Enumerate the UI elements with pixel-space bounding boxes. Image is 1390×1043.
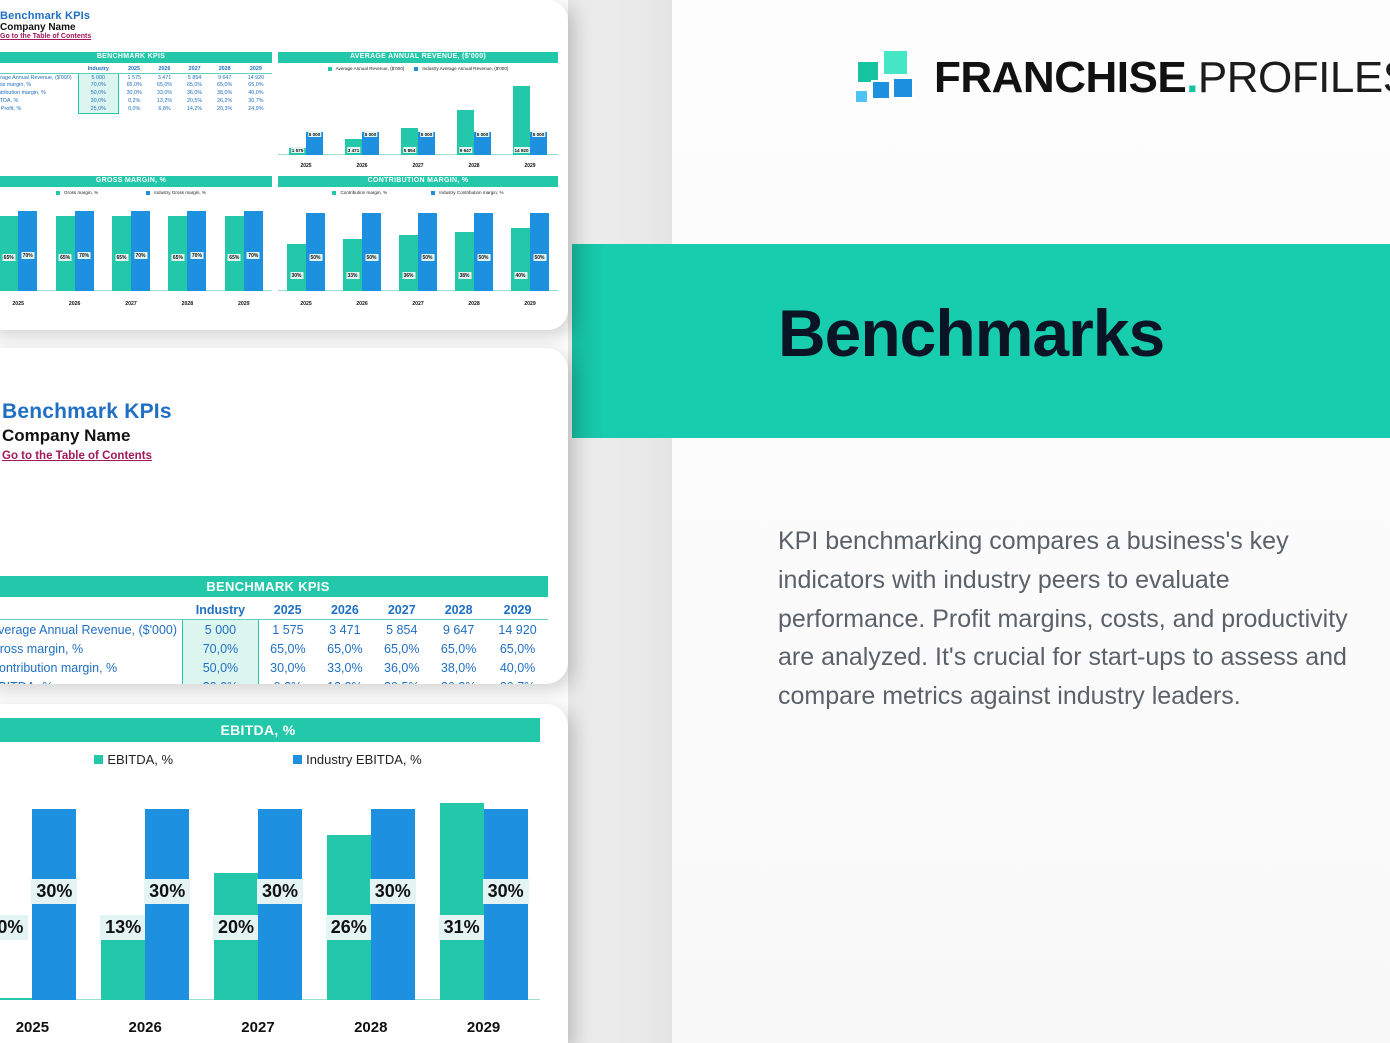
logo-word-franchise: FRANCHISE	[934, 53, 1186, 102]
x-axis-label: 2028	[159, 301, 215, 307]
bar-series: 36%	[399, 235, 418, 291]
panel-contribution-margin-small: CONTRIBUTION MARGIN, % Contribution marg…	[278, 176, 558, 308]
bar-group: 31%30%	[440, 790, 528, 1000]
cell-value: 30,0%	[259, 658, 317, 677]
x-axis-label: 2025	[0, 1019, 89, 1036]
bar-value-label: 5 000	[308, 131, 322, 137]
bar-series: 31%	[440, 803, 484, 1000]
background-gray-column	[568, 0, 672, 1043]
legend-label: Industry Contribution margin, %	[439, 190, 503, 195]
logo-square-3	[892, 77, 914, 99]
bar-industry: 30%	[371, 809, 415, 1000]
column-header: Industry	[182, 600, 259, 620]
bar-value-label: 30%	[370, 879, 416, 904]
bar-industry: 50%	[362, 213, 381, 291]
legend-label: Average Annual Revenue, ($'000)	[336, 66, 405, 71]
cell-value: 0,2%	[259, 677, 317, 684]
cell-value: 30,7%	[240, 97, 272, 105]
bar-group: 9 6475 000	[457, 83, 491, 155]
cell-value: 26,2%	[430, 677, 487, 684]
cell-value: 65,0%	[373, 639, 430, 658]
bar-value-label: 30%	[257, 879, 303, 904]
bar-industry: 30%	[258, 809, 302, 1000]
logo-square-5	[854, 89, 869, 104]
cell-value: 9 647	[430, 620, 487, 640]
bar-group: 65%70%	[0, 205, 37, 291]
bar-series: 38%	[455, 232, 474, 291]
column-header	[0, 65, 78, 73]
cell-value: 0,2%	[118, 97, 149, 105]
cell-industry: 30,0%	[182, 677, 259, 684]
bar-series: 65%	[56, 216, 75, 291]
legend-swatch-series	[332, 191, 336, 195]
sheet-company-name: Company Name	[0, 22, 568, 33]
cell-value: 65,0%	[316, 639, 373, 658]
cell-value: 65,0%	[180, 82, 210, 90]
table-row: Average Annual Revenue, ($'000)5 0001 57…	[0, 73, 272, 81]
panel-title: CONTRIBUTION MARGIN, %	[278, 176, 558, 187]
benchmark-kpis-table-large: Industry20252026202720282029Average Annu…	[0, 600, 548, 684]
logo-square-2	[882, 49, 909, 76]
legend-swatch-industry	[414, 67, 418, 71]
cell-industry: 25,0%	[78, 105, 118, 113]
bar-group: 20%30%	[214, 790, 302, 1000]
bar-group: 65%70%	[112, 205, 150, 291]
chart-legend: Gross margin, % Industry Gross margin, %	[0, 190, 272, 195]
cell-value: 33,0%	[316, 658, 373, 677]
bar-industry: 70%	[131, 211, 150, 291]
column-header: 2028	[210, 65, 240, 73]
table-row: Contribution margin, %50,0%30,0%33,0%36,…	[0, 89, 272, 97]
bar-value-label: 5 000	[476, 131, 490, 137]
cell-value: 20,5%	[373, 677, 430, 684]
row-label: Average Annual Revenue, ($'000)	[0, 620, 182, 640]
legend-swatch-industry	[293, 755, 302, 764]
bar-industry: 50%	[306, 213, 325, 291]
column-header: 2025	[118, 65, 149, 73]
cell-value: 3 471	[149, 73, 179, 81]
x-axis-label: 2029	[216, 301, 272, 307]
panel-title: BENCHMARK KPIS	[0, 576, 548, 597]
legend-label: Industry Gross margin, %	[154, 190, 206, 195]
table-row: Average Annual Revenue, ($'000)5 0001 57…	[0, 620, 548, 640]
bar-series: 5 854	[401, 128, 418, 155]
legend-label: Contribution margin, %	[340, 190, 387, 195]
brand-logo[interactable]: FRANCHISE.PROFILES	[852, 47, 1352, 109]
bar-value-label: 26%	[326, 915, 372, 940]
cell-industry: 5 000	[78, 73, 118, 81]
bar-series: 3 471	[345, 139, 362, 155]
cell-value: 65,0%	[210, 82, 240, 90]
cell-industry: 70,0%	[182, 639, 259, 658]
bar-series: 13%	[101, 917, 145, 1000]
x-axis-label: 2029	[502, 163, 558, 169]
cell-value: 65,0%	[240, 82, 272, 90]
bar-industry: 5 000	[530, 132, 547, 155]
bar-value-label: 50%	[421, 254, 434, 261]
chart-legend: Contribution margin, % Industry Contribu…	[278, 190, 558, 195]
bar-value-label: 50%	[309, 254, 322, 261]
legend-label: EBITDA, %	[107, 752, 173, 767]
bar-value-label: 50%	[533, 254, 546, 261]
bar-series: 1 575	[289, 148, 306, 155]
bar-value-label: 70%	[21, 252, 34, 259]
cell-value: 20,3%	[210, 105, 240, 113]
bar-value-label: 5 854	[403, 147, 417, 153]
bar-value-label: 36%	[402, 272, 415, 279]
table-header-row: Industry20252026202720282029	[0, 600, 548, 620]
column-header: 2025	[259, 600, 317, 620]
cell-value: 38,0%	[210, 89, 240, 97]
cell-industry: 5 000	[182, 620, 259, 640]
table-row: Gross margin, %70,0%65,0%65,0%65,0%65,0%…	[0, 639, 548, 658]
legend-label: Industry EBITDA, %	[306, 752, 422, 767]
chart-gross-margin-small: 65%70%202565%70%202665%70%202765%70%2028…	[0, 197, 272, 307]
bar-series: 14 920	[513, 86, 530, 155]
cell-value: 0,0%	[118, 105, 149, 113]
x-axis-label: 2027	[202, 1019, 315, 1036]
cell-value: 14 920	[487, 620, 548, 640]
cell-value: 65,0%	[259, 639, 317, 658]
table-row: EBITDA, %30,0%0,2%13,2%20,5%26,2%30,7%	[0, 677, 548, 684]
chart-legend: Average Annual Revenue, ($'000) Industry…	[278, 66, 558, 71]
row-label: Gross margin, %	[0, 639, 182, 658]
column-header: 2026	[316, 600, 373, 620]
bar-value-label: 5 000	[420, 131, 434, 137]
bar-value-label: 38%	[458, 272, 471, 279]
x-axis-label: 2027	[103, 301, 159, 307]
bar-industry: 50%	[530, 213, 549, 291]
x-axis-label: 2029	[502, 301, 558, 307]
row-label: EBITDA, %	[0, 97, 78, 105]
page-description: KPI benchmarking compares a business's k…	[778, 522, 1356, 716]
bar-value-label: 30%	[144, 879, 190, 904]
bar-value-label: 9 647	[459, 147, 473, 153]
table-row: Contribution margin, %50,0%30,0%33,0%36,…	[0, 658, 548, 677]
bar-value-label: 5 000	[364, 131, 378, 137]
bar-group: 14 9205 000	[513, 83, 547, 155]
bar-value-label: 14 920	[513, 147, 529, 153]
table-of-contents-link[interactable]: Go to the Table of Contents	[0, 33, 568, 40]
x-axis-label: 2027	[390, 301, 446, 307]
column-header: 2026	[149, 65, 179, 73]
sheet-header-large: Benchmark KPIs Company Name Go to the Ta…	[0, 348, 568, 462]
x-axis-label: 2026	[46, 301, 102, 307]
table-row: EBITDA, %30,0%0,2%13,2%20,5%26,2%30,7%	[0, 97, 272, 105]
table-row: Net Profit, %25,0%0,0%6,8%14,2%20,3%24,9…	[0, 105, 272, 113]
chart-contribution-margin-small: 30%50%202533%50%202636%50%202738%50%2028…	[278, 197, 558, 307]
bar-value-label: 65%	[171, 254, 184, 261]
cell-value: 30,7%	[487, 677, 548, 684]
legend-swatch-industry	[146, 191, 150, 195]
cell-value: 36,0%	[180, 89, 210, 97]
cell-value: 3 471	[316, 620, 373, 640]
panel-title: BENCHMARK KPIS	[0, 52, 272, 63]
bar-industry: 70%	[75, 211, 94, 291]
cell-value: 30,0%	[118, 89, 149, 97]
bar-value-label: 0%	[0, 915, 28, 940]
column-header: 2027	[180, 65, 210, 73]
x-axis-label: 2028	[446, 301, 502, 307]
row-label: Net Profit, %	[0, 105, 78, 113]
cell-value: 6,8%	[149, 105, 179, 113]
cell-industry: 50,0%	[182, 658, 259, 677]
column-header: 2027	[373, 600, 430, 620]
sheet-company-name: Company Name	[2, 426, 568, 446]
panel-title: EBITDA, %	[0, 718, 540, 742]
bar-series: 26%	[327, 835, 371, 1000]
cell-industry: 50,0%	[78, 89, 118, 97]
chart-ebitda-large: 0%30%202513%30%202620%30%202726%30%20283…	[0, 771, 540, 1036]
sheet-title: Benchmark KPIs	[2, 400, 568, 424]
bar-value-label: 30%	[31, 879, 77, 904]
bar-value-label: 1 575	[291, 147, 305, 153]
cell-value: 14,2%	[180, 105, 210, 113]
bar-series: 40%	[511, 228, 530, 291]
chart-average-annual-revenue-small: 1 5755 00020253 4715 00020265 8545 00020…	[278, 73, 558, 169]
row-label: Average Annual Revenue, ($'000)	[0, 73, 78, 81]
bar-group: 1 5755 000	[289, 83, 323, 155]
bar-industry: 30%	[32, 809, 76, 1000]
table-row: Gross margin, %70,0%65,0%65,0%65,0%65,0%…	[0, 82, 272, 90]
logo-word-profiles: PROFILES	[1198, 53, 1390, 102]
cell-value: 14 920	[240, 73, 272, 81]
x-axis-label: 2026	[334, 301, 390, 307]
cell-value: 33,0%	[149, 89, 179, 97]
bar-group: 0%30%	[0, 790, 76, 1000]
panel-benchmark-kpis-large: BENCHMARK KPIS Industry20252026202720282…	[0, 576, 548, 676]
panel-average-annual-revenue-small: AVERAGE ANNUAL REVENUE, ($'000) Average …	[278, 52, 558, 170]
bar-series: 20%	[214, 873, 258, 1000]
x-axis-label: 2025	[278, 301, 334, 307]
legend-label: Gross margin, %	[64, 190, 98, 195]
panel-title: GROSS MARGIN, %	[0, 176, 272, 187]
cell-value: 1 575	[259, 620, 317, 640]
chart-legend: EBITDA, % Industry EBITDA, %	[0, 752, 540, 767]
x-axis-label: 2025	[278, 163, 334, 169]
logo-square-4	[871, 80, 891, 100]
table-of-contents-link[interactable]: Go to the Table of Contents	[2, 450, 568, 462]
page-title: Benchmarks	[778, 300, 1378, 366]
cell-value: 20,5%	[180, 97, 210, 105]
x-axis-label: 2028	[314, 1019, 427, 1036]
bar-group: 33%50%	[343, 205, 381, 291]
bar-series: 33%	[343, 239, 362, 291]
bar-series: 65%	[168, 216, 187, 291]
bar-value-label: 33%	[346, 272, 359, 279]
cell-value: 9 647	[210, 73, 240, 81]
table-header-row: Industry20252026202720282029	[0, 65, 272, 73]
bar-series: 65%	[0, 216, 18, 291]
column-header: 2029	[487, 600, 548, 620]
bar-value-label: 50%	[365, 254, 378, 261]
bar-value-label: 50%	[477, 254, 490, 261]
bar-group: 38%50%	[455, 205, 493, 291]
sheet-header-small: Benchmark KPIs Company Name Go to the Ta…	[0, 0, 568, 40]
bar-value-label: 70%	[78, 252, 91, 259]
bar-industry: 5 000	[306, 132, 323, 155]
benchmark-kpis-table-small: Industry20252026202720282029Average Annu…	[0, 65, 272, 114]
bar-group: 30%50%	[287, 205, 325, 291]
bar-industry: 30%	[145, 809, 189, 1000]
bar-value-label: 40%	[514, 272, 527, 279]
panel-ebitda-large: EBITDA, % EBITDA, % Industry EBITDA, % 0…	[0, 718, 540, 1038]
bar-series: 0%	[0, 998, 32, 1000]
cell-value: 26,2%	[210, 97, 240, 105]
bar-value-label: 65%	[59, 254, 72, 261]
cell-value: 36,0%	[373, 658, 430, 677]
cell-value: 13,2%	[316, 677, 373, 684]
bar-value-label: 70%	[247, 252, 260, 259]
bar-value-label: 5 000	[532, 131, 546, 137]
bar-value-label: 30%	[483, 879, 529, 904]
row-label: Contribution margin, %	[0, 658, 182, 677]
sheet-title: Benchmark KPIs	[0, 10, 568, 22]
column-header: Industry	[78, 65, 118, 73]
bar-group: 5 8545 000	[401, 83, 435, 155]
bar-industry: 5 000	[474, 132, 491, 155]
column-header: 2029	[240, 65, 272, 73]
bar-group: 65%70%	[168, 205, 206, 291]
logo-word-dot: .	[1186, 53, 1198, 102]
bar-value-label: 70%	[134, 252, 147, 259]
cell-value: 13,2%	[149, 97, 179, 105]
bar-value-label: 13%	[100, 915, 146, 940]
legend-swatch-series	[94, 755, 103, 764]
logo-squares-icon	[852, 49, 918, 107]
bar-group: 65%70%	[56, 205, 94, 291]
cell-value: 40,0%	[487, 658, 548, 677]
x-axis-label: 2026	[334, 163, 390, 169]
bar-series: 65%	[112, 216, 131, 291]
panel-title: AVERAGE ANNUAL REVENUE, ($'000)	[278, 52, 558, 63]
bar-value-label: 20%	[213, 915, 259, 940]
bar-value-label: 65%	[228, 254, 241, 261]
cell-industry: 70,0%	[78, 82, 118, 90]
x-axis-label: 2027	[390, 163, 446, 169]
screenshot-card-ebitda[interactable]: EBITDA, % EBITDA, % Industry EBITDA, % 0…	[0, 704, 568, 1043]
legend-label: Industry Average Annual Revenue, ($'000)	[422, 66, 508, 71]
bar-value-label: 70%	[190, 252, 203, 259]
row-label: EBITDA, %	[0, 677, 182, 684]
bar-industry: 70%	[18, 211, 37, 291]
bar-group: 26%30%	[327, 790, 415, 1000]
bar-industry: 30%	[484, 809, 528, 1000]
row-label: Gross margin, %	[0, 82, 78, 90]
cell-value: 38,0%	[430, 658, 487, 677]
cell-value: 5 854	[373, 620, 430, 640]
x-axis-label: 2029	[427, 1019, 540, 1036]
screenshot-card-kpi-table[interactable]: Benchmark KPIs Company Name Go to the Ta…	[0, 348, 568, 684]
cell-industry: 30,0%	[78, 97, 118, 105]
cell-value: 65,0%	[149, 82, 179, 90]
x-axis-label: 2026	[89, 1019, 202, 1036]
logo-wordmark: FRANCHISE.PROFILES	[934, 56, 1390, 100]
bar-group: 36%50%	[399, 205, 437, 291]
bar-value-label: 30%	[290, 272, 303, 279]
bar-value-label: 31%	[439, 915, 485, 940]
cell-value: 24,9%	[240, 105, 272, 113]
legend-swatch-industry	[431, 191, 435, 195]
legend-swatch-series	[328, 67, 332, 71]
x-axis-label: 2028	[446, 163, 502, 169]
bar-industry: 50%	[418, 213, 437, 291]
cell-value: 1 575	[118, 73, 149, 81]
cell-value: 65,0%	[118, 82, 149, 90]
row-label: Contribution margin, %	[0, 89, 78, 97]
cell-value: 40,0%	[240, 89, 272, 97]
bar-series: 30%	[287, 244, 306, 291]
bar-group: 3 4715 000	[345, 83, 379, 155]
cell-value: 65,0%	[430, 639, 487, 658]
bar-series: 65%	[225, 216, 244, 291]
column-header	[0, 600, 182, 620]
bar-value-label: 3 471	[347, 147, 361, 153]
panel-benchmark-kpis-small: BENCHMARK KPIS Industry20252026202720282…	[0, 52, 272, 170]
column-header: 2028	[430, 600, 487, 620]
cell-value: 5 854	[180, 73, 210, 81]
bar-industry: 50%	[474, 213, 493, 291]
bar-value-label: 65%	[115, 254, 128, 261]
x-axis-label: 2025	[0, 301, 46, 307]
screenshot-card-overview[interactable]: Benchmark KPIs Company Name Go to the Ta…	[0, 0, 568, 330]
bar-industry: 5 000	[362, 132, 379, 155]
bar-group: 40%50%	[511, 205, 549, 291]
bar-series: 9 647	[457, 110, 474, 155]
bar-group: 13%30%	[101, 790, 189, 1000]
bar-industry: 70%	[187, 211, 206, 291]
legend-swatch-series	[56, 191, 60, 195]
bar-group: 65%70%	[225, 205, 263, 291]
bar-value-label: 65%	[2, 254, 15, 261]
cell-value: 65,0%	[487, 639, 548, 658]
bar-industry: 70%	[244, 211, 263, 291]
panel-gross-margin-small: GROSS MARGIN, % Gross margin, % Industry…	[0, 176, 272, 308]
bar-industry: 5 000	[418, 132, 435, 155]
